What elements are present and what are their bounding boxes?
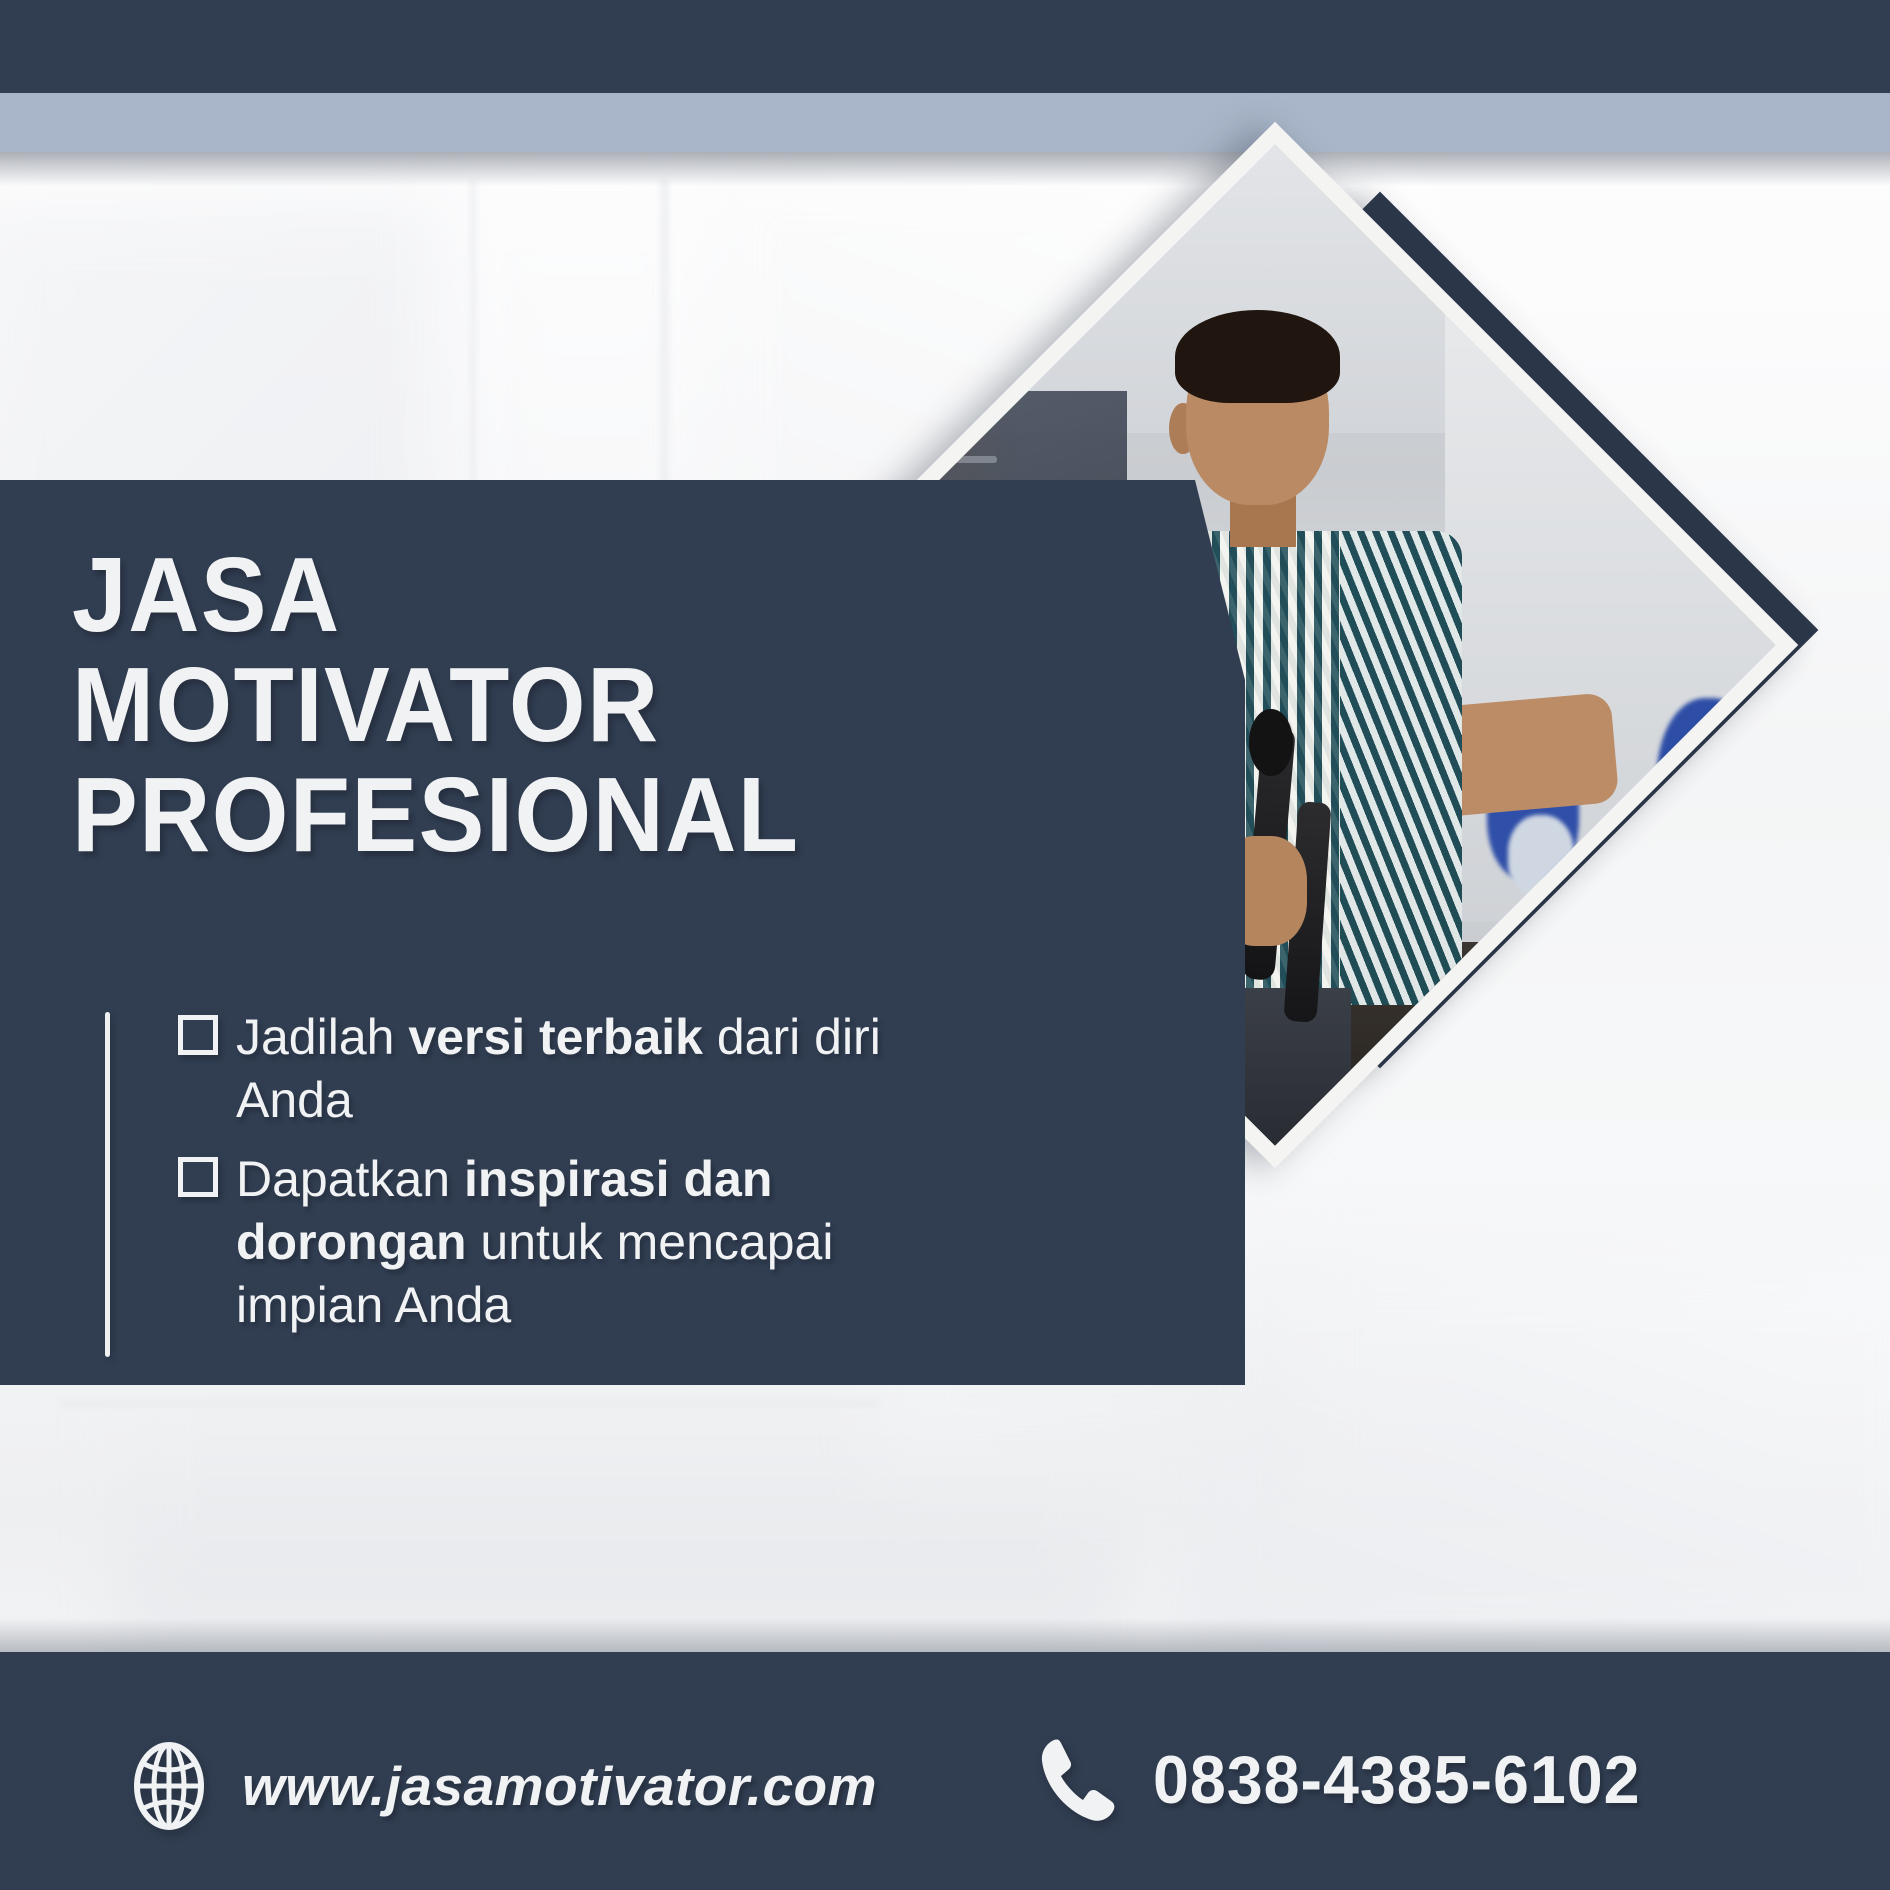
phone-number: 0838-4385-6102	[1153, 1741, 1640, 1819]
headline-line-2: MOTIVATOR	[72, 650, 890, 760]
benefit-list: Jadilah versi terbaik dari diri Anda Dap…	[178, 1006, 958, 1353]
top-accent-bar-light	[0, 93, 1890, 152]
checkbox-icon	[178, 1157, 218, 1197]
list-item: Jadilah versi terbaik dari diri Anda	[178, 1006, 958, 1132]
checkbox-icon	[178, 1015, 218, 1055]
website-url: www.jasamotivator.com	[242, 1754, 877, 1818]
headline-line-3: PROFESIONAL	[72, 760, 890, 870]
page-title: JASA MOTIVATOR PROFESIONAL	[72, 540, 890, 871]
top-accent-bar-dark	[0, 0, 1890, 93]
phone-contact[interactable]: 0838-4385-6102	[1035, 1734, 1666, 1826]
top-bar-shadow	[0, 152, 1890, 186]
globe-icon	[130, 1740, 208, 1832]
list-item: Dapatkan inspirasi dan dorongan untuk me…	[178, 1148, 958, 1337]
poster-canvas: JASA MOTIVATOR PROFESIONAL Jadilah versi…	[0, 0, 1890, 1890]
phone-icon	[1035, 1734, 1121, 1826]
website-contact[interactable]: www.jasamotivator.com	[130, 1740, 877, 1832]
footer-shadow	[0, 1618, 1890, 1654]
headline-line-1: JASA	[72, 540, 890, 650]
list-item-label: Dapatkan inspirasi dan dorongan untuk me…	[236, 1148, 958, 1337]
list-item-label: Jadilah versi terbaik dari diri Anda	[236, 1006, 958, 1132]
bullet-list-rule	[105, 1012, 110, 1357]
